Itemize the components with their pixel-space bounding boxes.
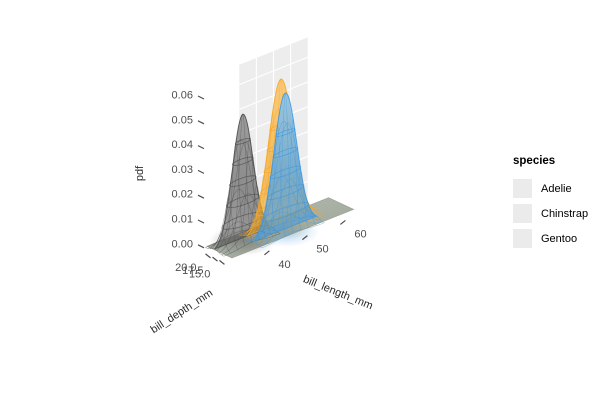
legend-key-chinstrap — [513, 204, 532, 223]
svg-text:50: 50 — [316, 244, 328, 256]
legend-label: Adelie — [541, 183, 572, 195]
svg-text:0.04: 0.04 — [172, 139, 193, 151]
legend-label: Gentoo — [541, 233, 577, 245]
legend-item-gentoo[interactable]: Gentoo — [513, 226, 597, 251]
svg-text:0.02: 0.02 — [172, 189, 193, 201]
legend-item-adelie[interactable]: Adelie — [513, 176, 597, 201]
legend-item-chinstrap[interactable]: Chinstrap — [513, 201, 597, 226]
svg-text:0.05: 0.05 — [172, 114, 193, 126]
svg-text:bill_depth_mm: bill_depth_mm — [149, 287, 216, 336]
svg-text:60: 60 — [354, 228, 366, 240]
svg-text:15.0: 15.0 — [189, 268, 210, 280]
svg-text:bill_length_mm: bill_length_mm — [301, 273, 374, 312]
surface-plot-3d: 0.000.010.020.030.040.050.06pdf20.017.51… — [0, 0, 600, 400]
legend-title: species — [513, 155, 597, 167]
svg-text:0.01: 0.01 — [172, 214, 193, 226]
legend-key-gentoo — [513, 229, 532, 248]
svg-text:40: 40 — [278, 259, 290, 271]
legend: species AdelieChinstrapGentoo — [513, 155, 597, 251]
legend-items: AdelieChinstrapGentoo — [513, 176, 597, 251]
svg-text:pdf: pdf — [134, 165, 146, 181]
figure-canvas: 0.000.010.020.030.040.050.06pdf20.017.51… — [0, 0, 600, 400]
legend-key-adelie — [513, 179, 532, 198]
svg-text:0.00: 0.00 — [172, 238, 193, 250]
svg-text:0.06: 0.06 — [172, 90, 193, 102]
legend-label: Chinstrap — [541, 208, 588, 220]
svg-text:0.03: 0.03 — [172, 164, 193, 176]
